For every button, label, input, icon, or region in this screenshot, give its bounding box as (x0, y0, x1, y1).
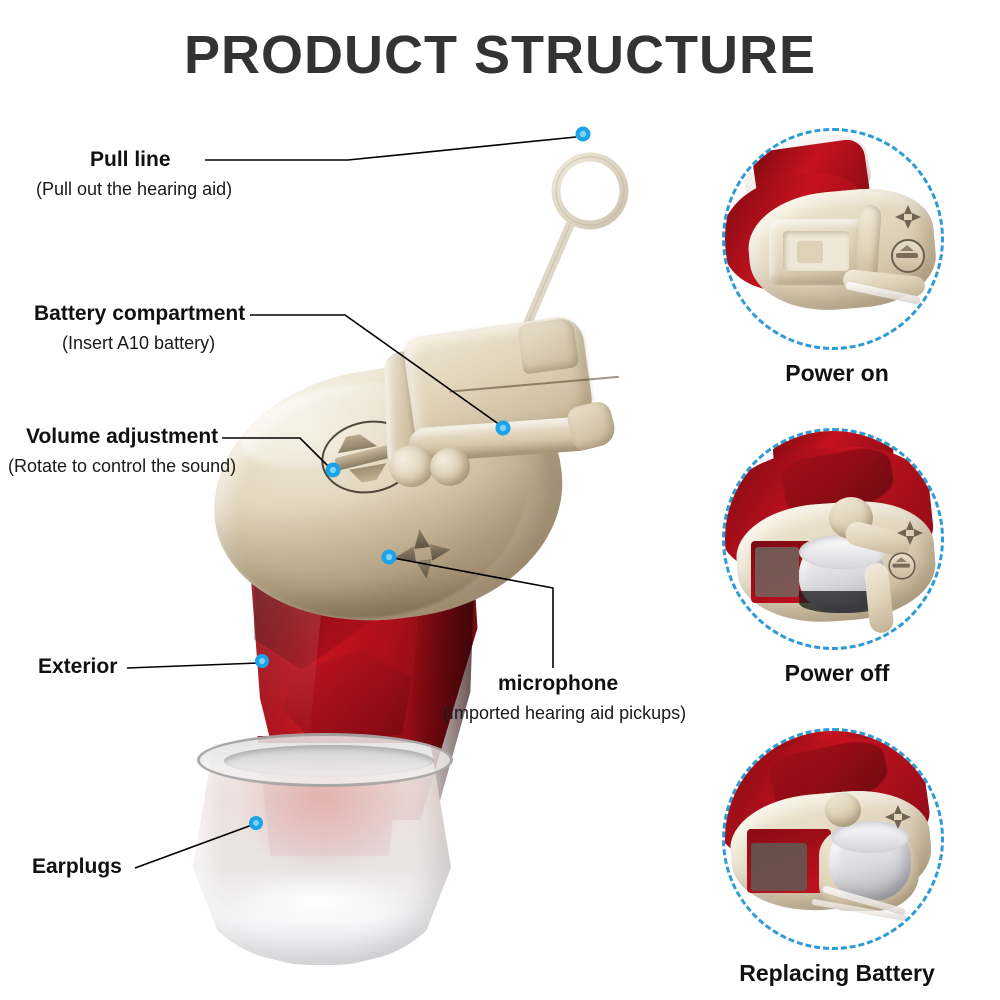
callout-volume-adjustment-label: Volume adjustment (26, 425, 236, 448)
panel-power-off-art (725, 431, 941, 647)
battery-door-seam (450, 376, 620, 393)
panel-power-on: Power on (722, 128, 952, 387)
earplug-rim-inner (224, 745, 434, 777)
callout-battery-compartment-label: Battery compartment (34, 302, 245, 325)
callout-microphone: microphone (Imported hearing aid pickups… (443, 672, 686, 724)
product-structure-diagram: PRODUCT STRUCTURE (0, 0, 1000, 1000)
hearing-aid-illustration (175, 105, 645, 965)
callout-microphone-label: microphone (498, 672, 686, 695)
panel-power-off-ring (722, 428, 944, 650)
callout-pull-line-label: Pull line (90, 148, 232, 171)
panel-replacing-battery-ring (722, 728, 944, 950)
callout-exterior-label: Exterior (38, 655, 117, 678)
earplug-highlight (229, 873, 409, 929)
panel-replacing-battery: Replacing Battery (722, 728, 952, 987)
callout-volume-adjustment: Volume adjustment (Rotate to control the… (8, 425, 236, 477)
panel-power-off: Power off (722, 428, 952, 687)
battery-compartment-door[interactable] (367, 304, 637, 536)
microphone-petal-left (394, 546, 416, 566)
battery-door-tab (565, 399, 618, 452)
microphone-petal-right (430, 541, 452, 561)
panel-power-off-caption: Power off (722, 660, 952, 687)
callout-earplugs-label: Earplugs (32, 855, 122, 878)
callout-earplugs: Earplugs (32, 855, 122, 878)
battery-door-notch (517, 317, 579, 374)
microphone-petal-bottom (416, 559, 434, 580)
panel-replacing-battery-caption: Replacing Battery (722, 960, 952, 987)
callout-volume-adjustment-sub: (Rotate to control the sound) (8, 457, 236, 477)
panel-power-on-caption: Power on (722, 360, 952, 387)
page-title: PRODUCT STRUCTURE (0, 24, 1000, 86)
callout-battery-compartment-sub: (Insert A10 battery) (62, 334, 245, 354)
callout-pull-line: Pull line (Pull out the hearing aid) (36, 148, 232, 200)
callout-battery-compartment: Battery compartment (Insert A10 battery) (34, 302, 245, 354)
earplug-dome (193, 733, 451, 965)
callout-exterior: Exterior (38, 655, 117, 678)
panel-power-on-art (725, 131, 941, 347)
panel-replacing-battery-art (725, 731, 941, 947)
callout-microphone-sub: (Imported hearing aid pickups) (443, 704, 686, 724)
callout-pull-line-sub: (Pull out the hearing aid) (36, 180, 232, 200)
panel-power-on-ring (722, 128, 944, 350)
earplug-rim (197, 733, 453, 787)
